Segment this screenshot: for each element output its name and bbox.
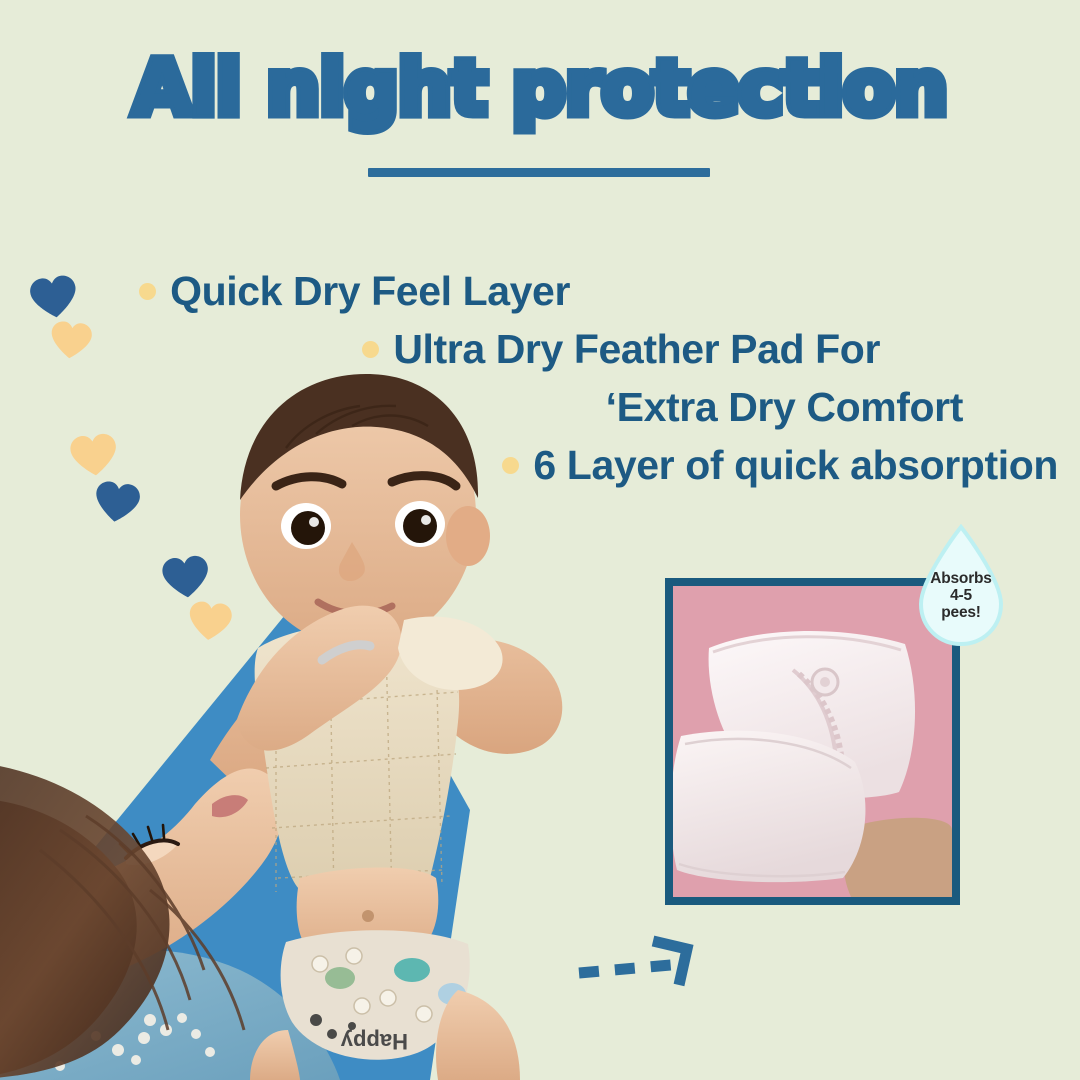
feature-label-2: Ultra Dry Feather Pad For	[393, 326, 880, 373]
feature-item-2: Ultra Dry Feather Pad For	[0, 320, 1080, 378]
bullet-dot-icon	[139, 283, 156, 300]
feature-label-3: ‘Extra Dry Comfort	[606, 384, 963, 431]
badge-line-2: 4-5	[915, 587, 1007, 604]
feature-list: Quick Dry Feel Layer Ultra Dry Feather P…	[0, 262, 1080, 494]
feature-item-3: ‘Extra Dry Comfort	[0, 378, 1080, 436]
bullet-dot-icon	[362, 341, 379, 358]
poster-canvas: All night protection	[0, 0, 1080, 1080]
heart-icon	[184, 596, 237, 649]
diaper-print-text: Happy	[340, 1029, 408, 1054]
feature-label-1: Quick Dry Feel Layer	[170, 268, 570, 315]
badge-line-1: Absorbs	[915, 570, 1007, 587]
absorbs-badge: Absorbs 4-5 pees!	[915, 524, 1007, 648]
badge-line-3: pees!	[915, 604, 1007, 621]
feature-label-4: 6 Layer of quick absorption	[533, 442, 1058, 489]
page-title: All night protection	[0, 48, 1080, 128]
feature-item-1: Quick Dry Feel Layer	[0, 262, 1080, 320]
dashed-arrow-icon	[575, 925, 705, 995]
feature-item-4: 6 Layer of quick absorption	[0, 436, 1080, 494]
title-underline	[368, 168, 710, 177]
bullet-dot-icon	[502, 457, 519, 474]
